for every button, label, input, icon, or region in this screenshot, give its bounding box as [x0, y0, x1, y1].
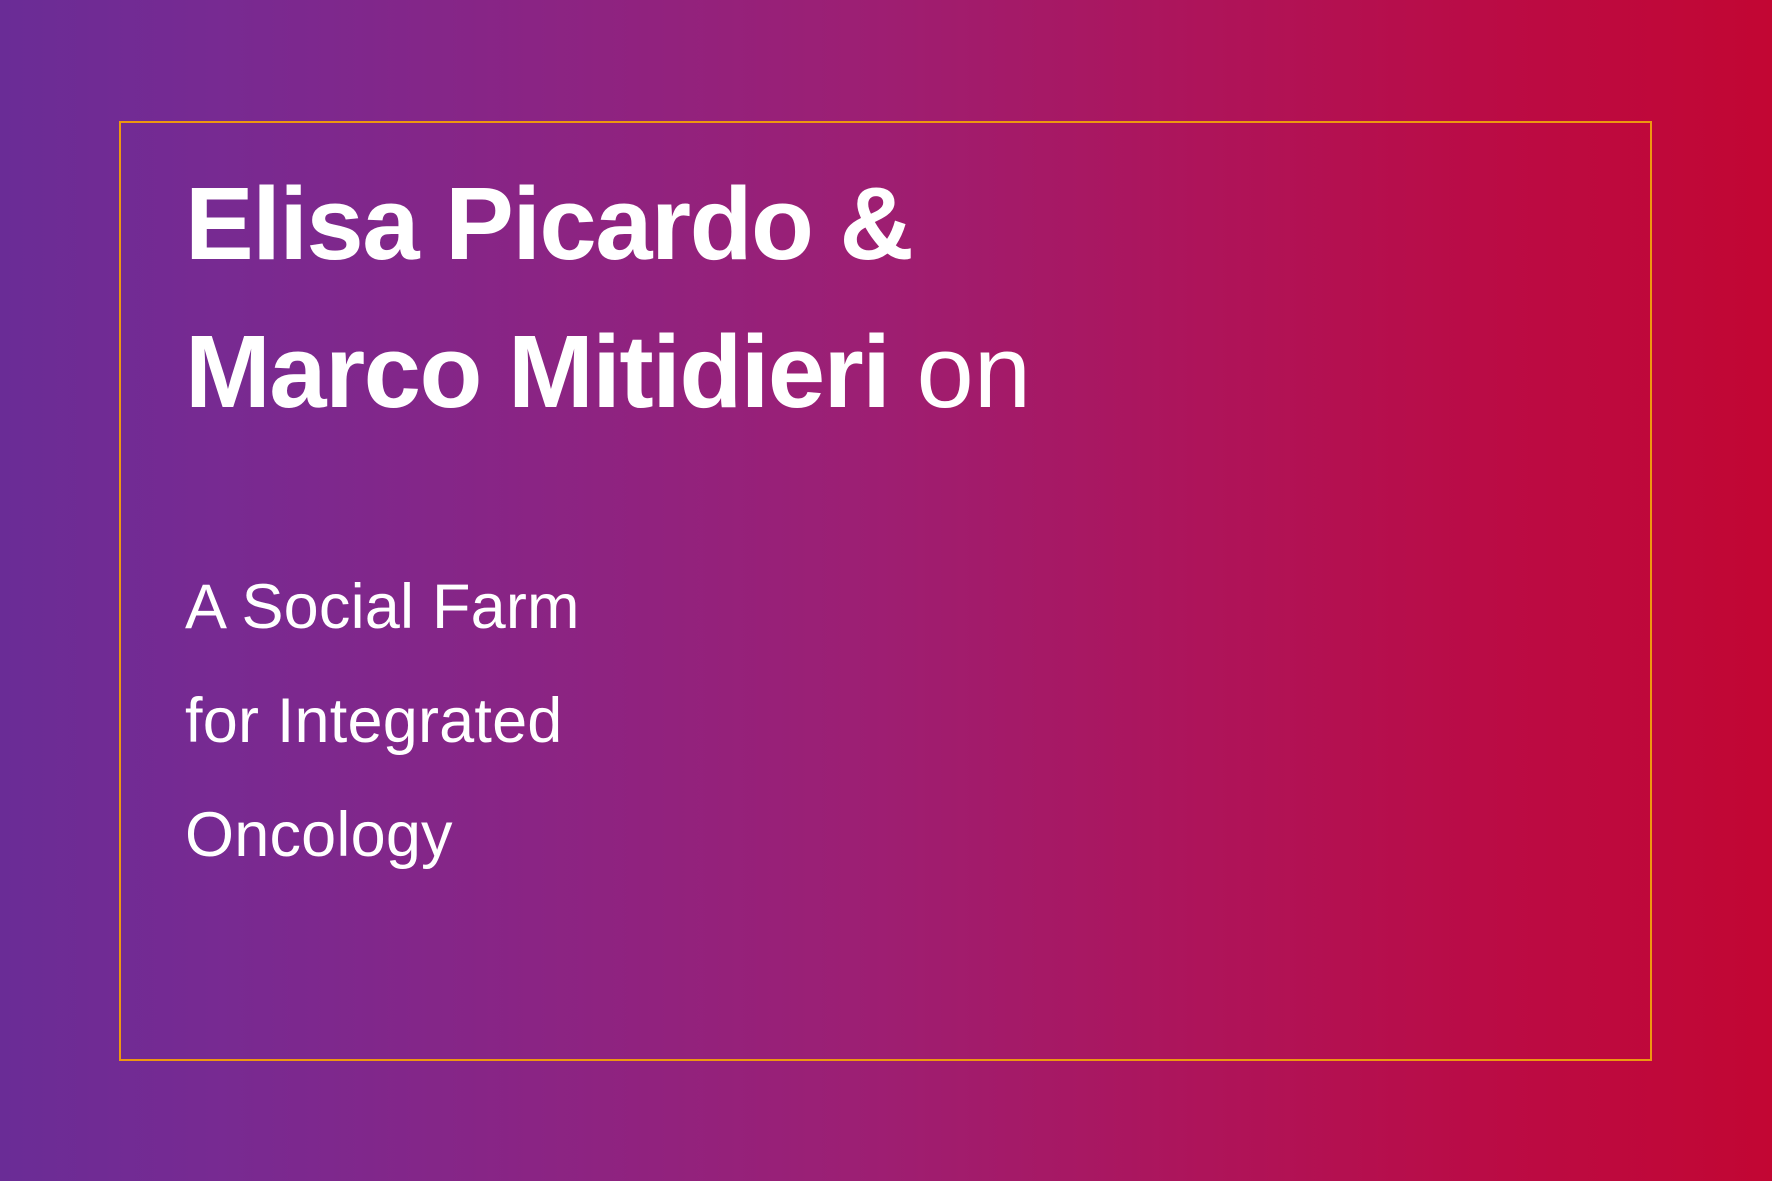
connector-word-on: on — [916, 314, 1031, 429]
talk-line-3: Oncology — [185, 800, 453, 870]
talk-title-subheading: A Social Farm for Integrated Oncology — [185, 446, 1525, 892]
speaker-title-card: Elisa Picardo & Marco Mitidieri on A Soc… — [0, 0, 1772, 1181]
speaker-line-1: Elisa Picardo & — [185, 166, 912, 281]
speaker-names-heading: Elisa Picardo & Marco Mitidieri on — [185, 150, 1525, 446]
speaker-line-2: Marco Mitidieri — [185, 314, 889, 429]
card-content: Elisa Picardo & Marco Mitidieri on A Soc… — [185, 150, 1525, 892]
talk-line-2: for Integrated — [185, 686, 563, 756]
talk-line-1: A Social Farm — [185, 572, 580, 642]
